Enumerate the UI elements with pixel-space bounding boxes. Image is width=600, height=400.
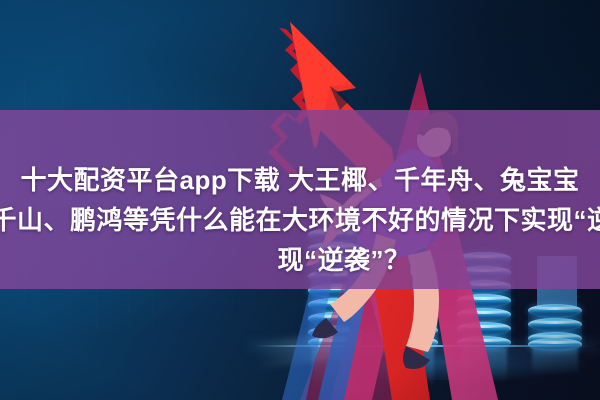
banner-image: 十大配资平台app下载 大王椰、千年舟、兔宝宝 千山、鹏鸿等凭什么能在大环境不好… [0, 0, 600, 400]
headline-line-1: 十大配资平台app下载 大王椰、千年舟、兔宝宝 [21, 160, 580, 200]
headline-line-2: 千山、鹏鸿等凭什么能在大环境不好的情况下实现“逆 [0, 200, 600, 240]
headline-line-3: 现“逆袭”？ [277, 240, 410, 280]
headline-text: 十大配资平台app下载 大王椰、千年舟、兔宝宝 千山、鹏鸿等凭什么能在大环境不好… [0, 110, 600, 289]
